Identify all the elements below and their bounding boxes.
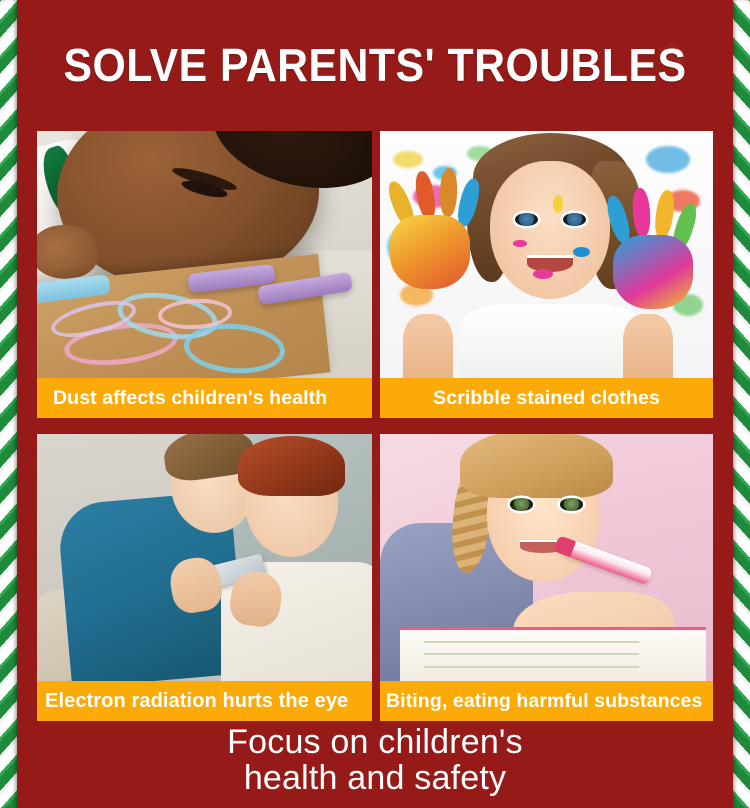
trouble-card-dust[interactable]: Dust affects children's health bbox=[37, 131, 372, 418]
caption-dust: Dust affects children's health bbox=[37, 378, 372, 418]
photo-electron-radiation-eye bbox=[37, 434, 372, 681]
photo-dust-affects-health bbox=[37, 131, 372, 378]
trouble-card-biting[interactable]: Biting, eating harmful substances bbox=[380, 434, 713, 721]
photo-scribble-stained-clothes bbox=[380, 131, 713, 378]
trouble-card-scribble[interactable]: Scribble stained clothes bbox=[380, 131, 713, 418]
footer-slogan: Focus on children's health and safety bbox=[17, 724, 733, 796]
slogan-line-2: health and safety bbox=[17, 760, 733, 796]
trouble-card-radiation[interactable]: Electron radiation hurts the eye bbox=[37, 434, 372, 721]
slogan-line-1: Focus on children's bbox=[17, 724, 733, 760]
promo-poster: ❄ SOLVE PARENTS' TROUBLES bbox=[0, 0, 750, 808]
left-candy-stripe-border bbox=[0, 0, 17, 808]
caption-radiation: Electron radiation hurts the eye bbox=[37, 681, 372, 721]
photo-biting-harmful-substances bbox=[380, 434, 713, 681]
page-title: SOLVE PARENTS' TROUBLES bbox=[42, 36, 708, 94]
trouble-card-grid: Dust affects children's health bbox=[37, 131, 713, 721]
caption-biting: Biting, eating harmful substances bbox=[380, 681, 713, 721]
right-candy-stripe-border bbox=[733, 0, 750, 808]
caption-scribble: Scribble stained clothes bbox=[380, 378, 713, 418]
